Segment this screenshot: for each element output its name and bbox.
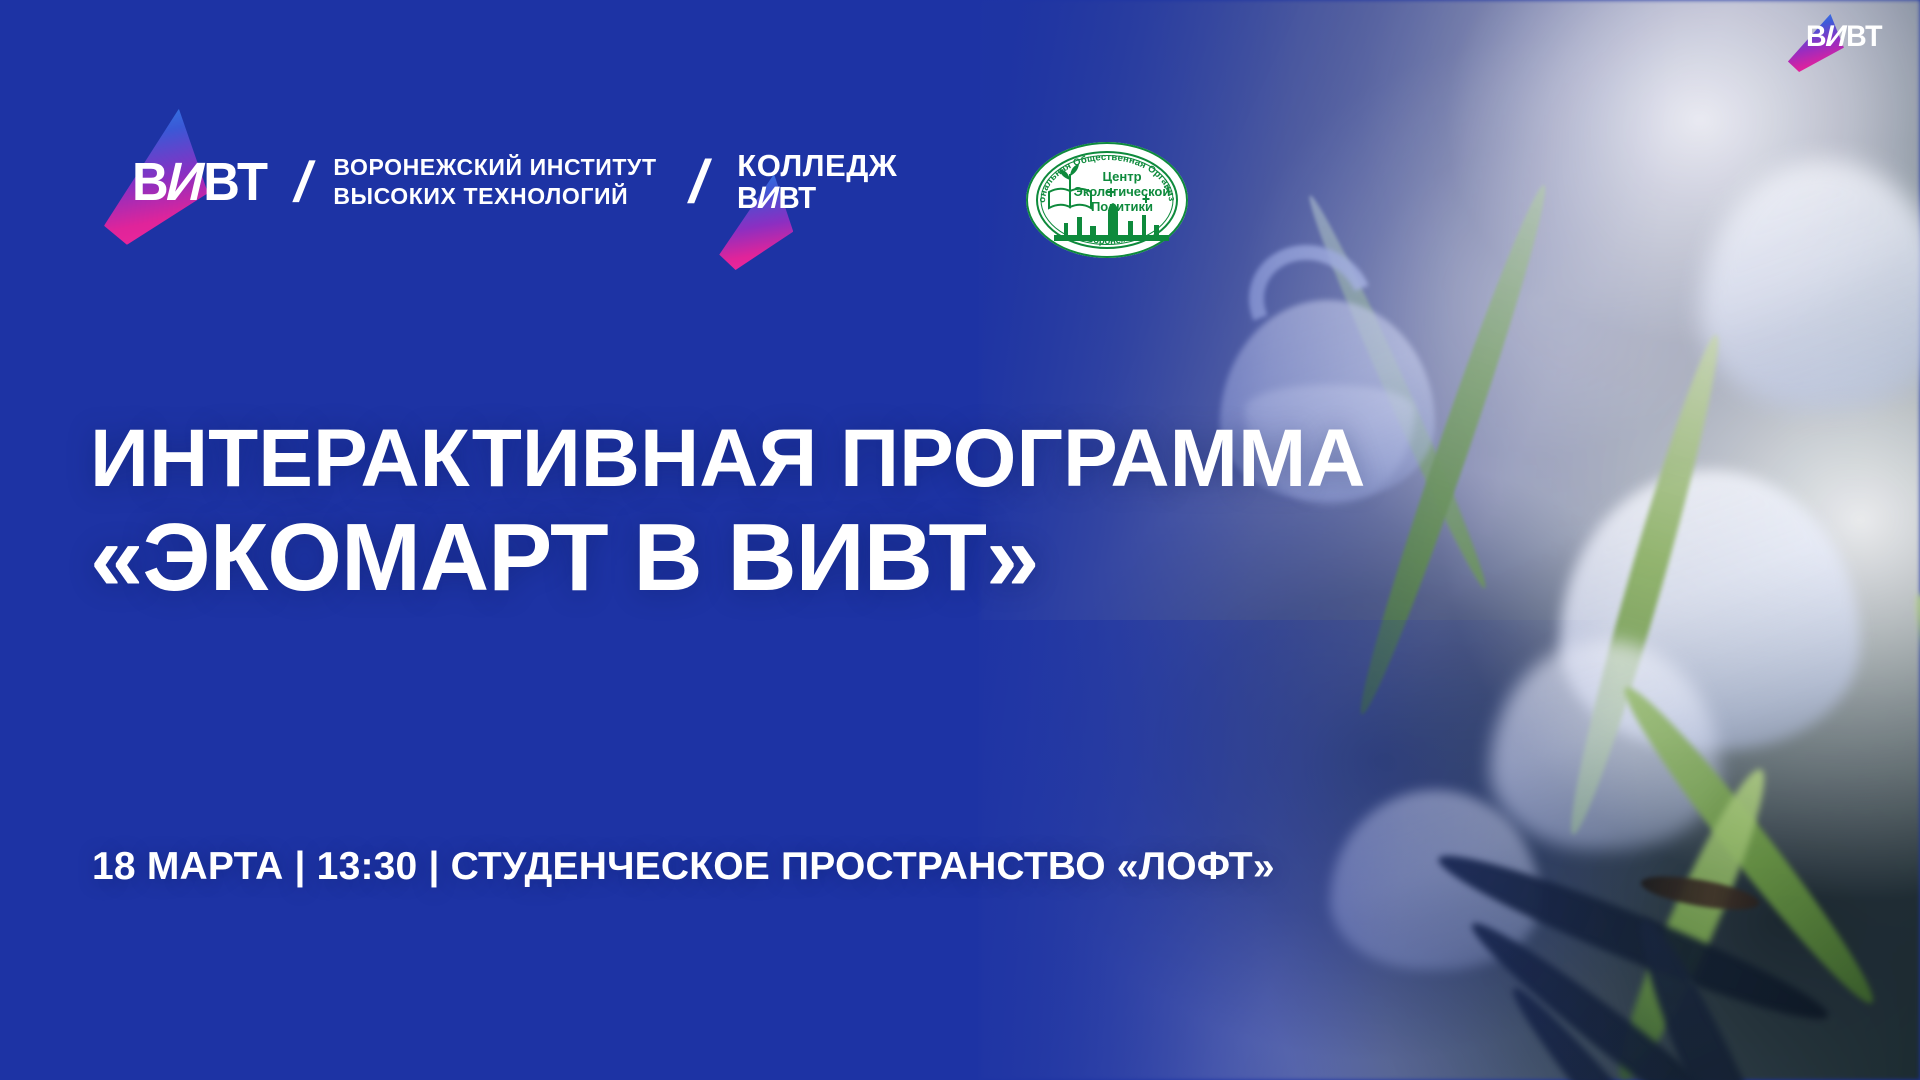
college-vivt-wordmark: ВИВТ bbox=[737, 182, 889, 214]
college-mark-suffix: ВТ bbox=[779, 180, 816, 215]
event-details-line: 18 МАРТА | 13:30 | СТУДЕНЧЕСКОЕ ПРОСТРАН… bbox=[92, 845, 1275, 889]
institute-name-line1: ВОРОНЕЖСКИЙ ИНСТИТУТ bbox=[333, 153, 656, 182]
svg-text:Экологической: Экологической bbox=[1074, 184, 1171, 199]
watermark-wordmark: ВИВТ bbox=[1806, 22, 1882, 52]
vivt-wordmark: ВИВТ bbox=[132, 155, 267, 209]
watermark-mark-suffix: ВТ bbox=[1846, 20, 1882, 53]
college-label: КОЛЛЕДЖ bbox=[737, 150, 897, 182]
vivt-college-logo[interactable]: КОЛЛЕДЖ ВИВТ bbox=[737, 150, 897, 214]
svg-text:Центр: Центр bbox=[1102, 169, 1141, 184]
vivt-institute-logo[interactable]: ВИВТ / ВОРОНЕЖСКИЙ ИНСТИТУТ ВЫСОКИХ ТЕХН… bbox=[132, 153, 657, 212]
vivt-watermark: ВИВТ bbox=[1806, 22, 1886, 52]
logo-header-row: ВИВТ / ВОРОНЕЖСКИЙ ИНСТИТУТ ВЫСОКИХ ТЕХН… bbox=[132, 150, 897, 214]
headline-line-2: «ЭКОМАРТ В ВИВТ» bbox=[90, 510, 1365, 606]
vivt-mark-suffix: ВТ bbox=[203, 152, 267, 212]
eco-emblem-icon: Региональная Общественная Организация Во… bbox=[1024, 140, 1190, 260]
poster-canvas: ВИВТ / ВОРОНЕЖСКИЙ ИНСТИТУТ ВЫСОКИХ ТЕХН… bbox=[0, 0, 1920, 1080]
institute-full-name: ВОРОНЕЖСКИЙ ИНСТИТУТ ВЫСОКИХ ТЕХНОЛОГИЙ bbox=[333, 153, 656, 212]
eco-policy-center-emblem[interactable]: Региональная Общественная Организация Во… bbox=[1024, 140, 1190, 260]
institute-name-line2: ВЫСОКИХ ТЕХНОЛОГИЙ bbox=[333, 182, 656, 211]
headline-line-1: ИНТЕРАКТИВНАЯ ПРОГРАММА bbox=[90, 418, 1365, 500]
page-title: ИНТЕРАКТИВНАЯ ПРОГРАММА «ЭКОМАРТ В ВИВТ» bbox=[90, 418, 1365, 606]
svg-text:Политики: Политики bbox=[1091, 199, 1153, 214]
logo-slash-separator: / bbox=[290, 154, 317, 210]
lockup-divider-slash: / bbox=[684, 152, 713, 212]
